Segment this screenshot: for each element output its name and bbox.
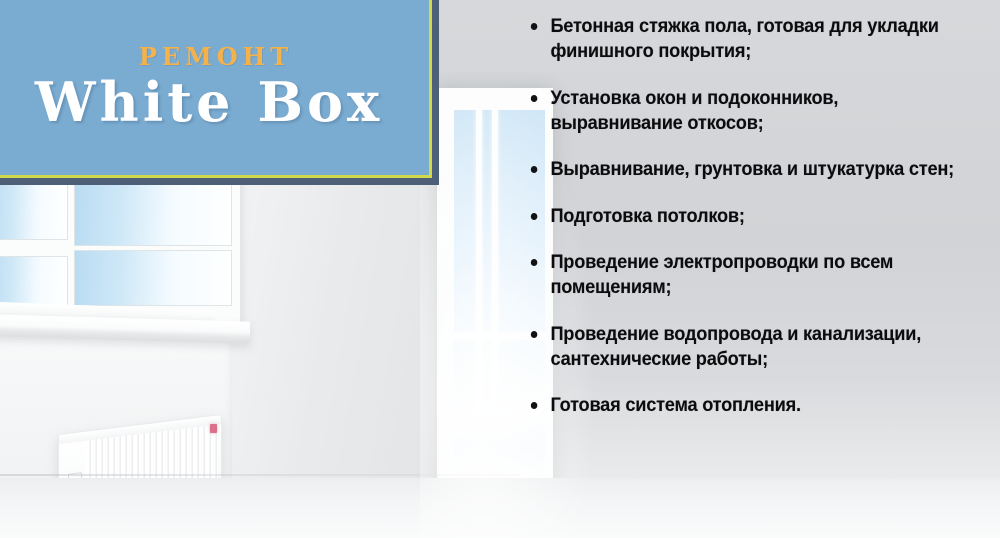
feature-item: Подготовка потолков; [528,204,960,229]
feature-item: Бетонная стяжка пола, готовая для укладк… [528,14,960,65]
banner-title-main: White Box [35,75,383,130]
banner-title-top: Ремонт [139,37,293,71]
title-banner: Ремонт White Box [0,0,432,178]
feature-item: Проведение электропроводки по всем помещ… [528,250,960,301]
feature-list: Бетонная стяжка пола, готовая для укладк… [528,14,990,419]
feature-item: Выравнивание, грунтовка и штукатурка сте… [528,157,960,182]
window-pane [0,256,68,306]
poster: Ремонт White Box Бетонная стяжка пола, г… [0,0,1000,538]
window-pane [74,176,232,246]
banner-content: Ремонт White Box [0,0,429,175]
feature-item: Установка окон и подоконников, выравнива… [528,86,960,137]
radiator-valve-icon [210,424,217,433]
floor-edge [0,474,520,476]
window-pane [74,250,232,306]
feature-item: Готовая система отопления. [528,393,960,418]
floor [0,478,1000,538]
window-pane [0,180,68,240]
feature-item: Проведение водопровода и канализации, са… [528,322,960,373]
